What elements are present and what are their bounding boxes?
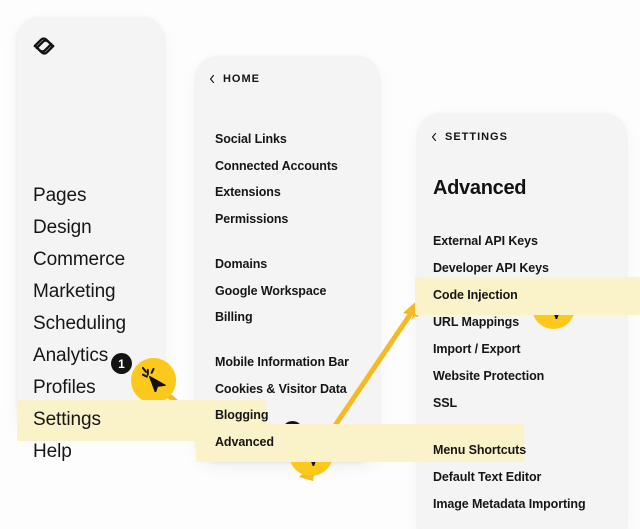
menu-item-advanced[interactable]: Advanced bbox=[215, 429, 349, 456]
menu-item-label: Default Text Editor bbox=[433, 470, 541, 484]
menu-item-commerce[interactable]: Commerce bbox=[33, 244, 126, 276]
menu-item-import-export[interactable]: Import / Export bbox=[433, 336, 585, 363]
menu-item-design[interactable]: Design bbox=[33, 212, 126, 244]
menu-item-label: External API Keys bbox=[433, 234, 538, 248]
menu-advanced-list: External API Keys Developer API Keys Cod… bbox=[433, 228, 585, 518]
menu-item-billing[interactable]: Billing bbox=[215, 304, 349, 331]
menu-item-label: Domains bbox=[215, 257, 267, 271]
menu-item-label: Analytics bbox=[33, 345, 108, 366]
menu-item-image-metadata-importing[interactable]: Image Metadata Importing bbox=[433, 491, 585, 518]
menu-item-code-injection[interactable]: Code Injection bbox=[433, 282, 585, 309]
menu-item-label: Commerce bbox=[33, 249, 125, 270]
menu-item-default-text-editor[interactable]: Default Text Editor bbox=[433, 464, 585, 491]
menu-home-list: Pages Design Commerce Marketing Scheduli… bbox=[33, 180, 126, 468]
menu-item-label: Blogging bbox=[215, 408, 268, 422]
menu-item-social-links[interactable]: Social Links bbox=[215, 126, 349, 153]
menu-item-website-protection[interactable]: Website Protection bbox=[433, 363, 585, 390]
menu-item-external-api-keys[interactable]: External API Keys bbox=[433, 228, 585, 255]
back-link-label: HOME bbox=[223, 73, 260, 85]
back-to-home-link[interactable]: HOME bbox=[208, 73, 260, 85]
chevron-left-icon bbox=[208, 75, 216, 83]
menu-item-label: Settings bbox=[33, 409, 101, 430]
menu-item-label: Permissions bbox=[215, 212, 288, 226]
menu-item-label: Billing bbox=[215, 310, 253, 324]
tutorial-screenshot: Pages Design Commerce Marketing Scheduli… bbox=[0, 0, 640, 529]
menu-item-label: SSL bbox=[433, 396, 457, 410]
menu-item-cookies-visitor-data[interactable]: Cookies & Visitor Data bbox=[215, 376, 349, 403]
menu-item-label: URL Mappings bbox=[433, 315, 519, 329]
menu-item-google-workspace[interactable]: Google Workspace bbox=[215, 278, 349, 305]
menu-item-settings[interactable]: Settings bbox=[33, 404, 126, 436]
menu-item-label: Code Injection bbox=[433, 288, 518, 302]
menu-item-mobile-information-bar[interactable]: Mobile Information Bar bbox=[215, 349, 349, 376]
menu-item-pages[interactable]: Pages bbox=[33, 180, 126, 212]
menu-item-label: Advanced bbox=[215, 435, 274, 449]
menu-item-label: Pages bbox=[33, 185, 86, 206]
menu-item-permissions[interactable]: Permissions bbox=[215, 206, 349, 233]
menu-item-label: Scheduling bbox=[33, 313, 126, 334]
menu-item-label: Image Metadata Importing bbox=[433, 497, 585, 511]
back-link-label: SETTINGS bbox=[445, 131, 508, 143]
menu-item-label: Extensions bbox=[215, 185, 281, 199]
menu-item-label: Website Protection bbox=[433, 369, 544, 383]
menu-item-label: Google Workspace bbox=[215, 284, 326, 298]
menu-item-domains[interactable]: Domains bbox=[215, 251, 349, 278]
menu-item-label: Import / Export bbox=[433, 342, 520, 356]
menu-item-scheduling[interactable]: Scheduling bbox=[33, 308, 126, 340]
squarespace-logo-icon[interactable] bbox=[30, 32, 58, 60]
chevron-left-icon bbox=[430, 133, 438, 141]
menu-item-connected-accounts[interactable]: Connected Accounts bbox=[215, 153, 349, 180]
back-to-settings-link[interactable]: SETTINGS bbox=[430, 131, 508, 143]
menu-item-label: Help bbox=[33, 441, 72, 462]
menu-item-label: Design bbox=[33, 217, 92, 238]
menu-item-label: Profiles bbox=[33, 377, 96, 398]
menu-item-extensions[interactable]: Extensions bbox=[215, 179, 349, 206]
menu-group-divider bbox=[215, 233, 349, 251]
menu-item-label: Developer API Keys bbox=[433, 261, 549, 275]
menu-item-label: Cookies & Visitor Data bbox=[215, 382, 347, 396]
menu-group-divider bbox=[215, 331, 349, 349]
menu-item-ssl[interactable]: SSL bbox=[433, 390, 585, 417]
click-cursor-icon bbox=[142, 367, 167, 392]
menu-item-label: Mobile Information Bar bbox=[215, 355, 349, 369]
page-title: Advanced bbox=[433, 177, 526, 200]
menu-item-label: Social Links bbox=[215, 132, 287, 146]
menu-item-marketing[interactable]: Marketing bbox=[33, 276, 126, 308]
menu-item-label: Menu Shortcuts bbox=[433, 443, 526, 457]
menu-item-label: Marketing bbox=[33, 281, 116, 302]
menu-item-label: Connected Accounts bbox=[215, 159, 338, 173]
step-badge: 1 bbox=[111, 353, 132, 374]
